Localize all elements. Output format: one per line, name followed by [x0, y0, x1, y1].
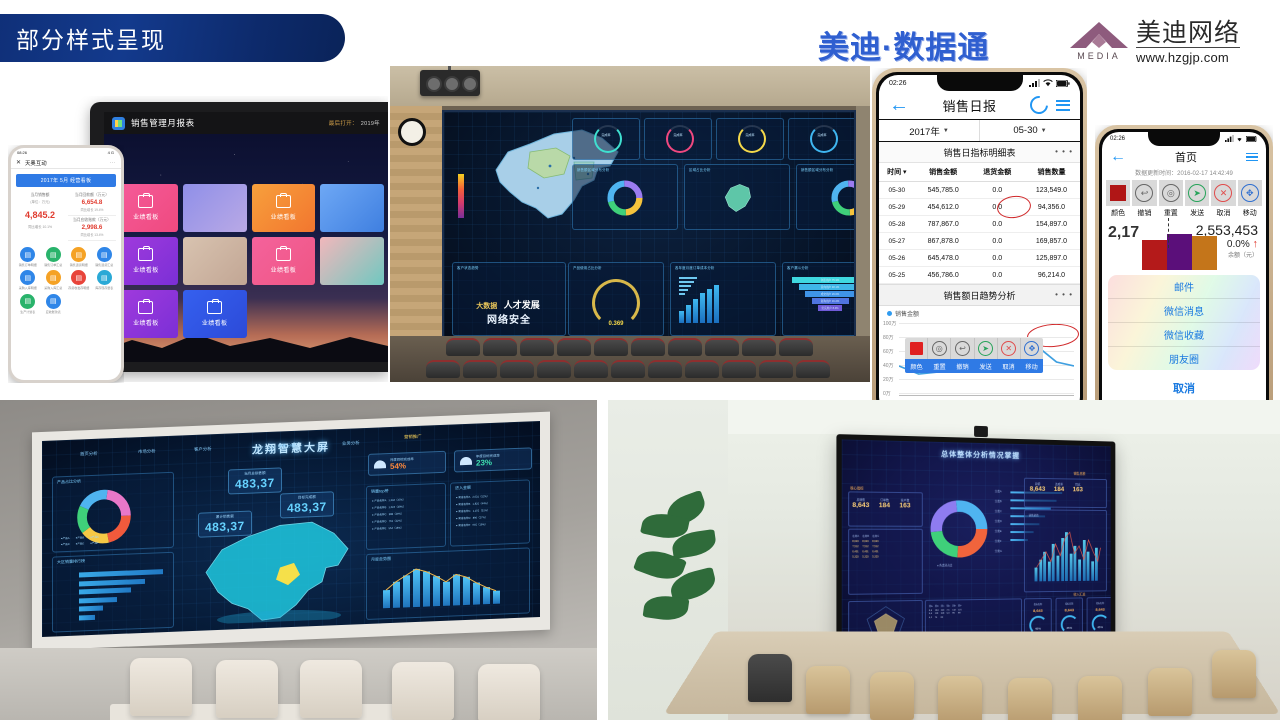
y-tick-label: 20万	[883, 376, 894, 383]
shortcut-label: 销售退货明细	[70, 264, 88, 267]
whiteboard-frame: 龙翔智慧大屏 首页分析市场分析客户分析销售分析业务分析营销推广 产品占比分析 ●…	[32, 412, 550, 651]
table-more-icon[interactable]: • • •	[1055, 147, 1073, 156]
tablet-tile-label: 业绩看板	[202, 318, 228, 327]
report-table-title: 销售日指标明细表	[943, 148, 1015, 158]
share-option[interactable]: 朋友圈	[1108, 347, 1260, 370]
y-tick-label: 40万	[883, 362, 894, 369]
gauge-kpi-caption: 指标名称	[1057, 601, 1082, 605]
shortcut-item[interactable]: ▤销售退货汇总	[93, 247, 117, 267]
phone-report-statusbar: 02:26	[879, 75, 1080, 91]
gauge-kpi-value: 8,643	[1025, 608, 1051, 613]
shortcut-item[interactable]: ▤销售订单明细	[16, 247, 40, 267]
banner-text-2: 人才发展	[504, 300, 540, 310]
kpi-pct-text: 0.0%	[1227, 239, 1250, 250]
tablet-tile-grid[interactable]: 业绩看板业绩看板业绩看板业绩看板业绩看板业绩看板	[114, 184, 384, 338]
tablet-wallpaper: 业绩看板业绩看板业绩看板业绩看板业绩看板业绩看板	[104, 134, 388, 362]
banner-card-title: 客户状态趋势	[457, 265, 479, 270]
table-cell: 0.0	[972, 233, 1023, 250]
reset-icon: ◎	[1162, 184, 1180, 202]
toolbar-move-button[interactable]: ✥	[1021, 338, 1043, 359]
toolbar-label[interactable]: 发送	[1185, 206, 1209, 220]
tablet-meta-label: 最后打开：	[329, 121, 358, 127]
chair	[478, 664, 540, 720]
shortcut-icon: ▤	[46, 270, 61, 285]
shortcut-icon: ▤	[46, 294, 61, 309]
status-indicators	[1029, 79, 1070, 87]
camera-icon	[974, 426, 988, 437]
annotation-toolbar[interactable]: ◎↩➤✕✥ 颜色重置撤销发送取消移动	[905, 338, 1043, 373]
funnel-row: 复购用户 16.2%	[812, 298, 849, 304]
logo-website-url: www.hzgjp.com	[1136, 50, 1240, 65]
annotation-drawn-bars	[1142, 228, 1217, 270]
toolbar-send-button[interactable]: ➤	[1185, 180, 1209, 206]
phone-left-screen: 08:26 4G ✕ 天奥互动 ··· 2017年 5月 经营看板 当月销售额 …	[11, 148, 121, 380]
table-cell: 454,612.0	[915, 199, 972, 216]
income-title: 进入金额	[455, 485, 471, 492]
kpi-value: 163	[1073, 486, 1083, 493]
table-cell: 169,857.0	[1023, 233, 1080, 250]
toolbar-label[interactable]: 取消	[997, 359, 1020, 373]
shortcut-item[interactable]: ▤库存现存量表	[93, 270, 117, 290]
home-kpi-section: 2,17 2,553,453 0.0% ↑ 余额（元）	[1102, 220, 1266, 242]
chair	[938, 676, 982, 720]
kpi-value: 8,643	[852, 502, 869, 509]
list-menu-icon[interactable]	[1056, 100, 1070, 111]
mid-card-title: 销售额区域分布分析	[801, 167, 833, 172]
toolbar-label[interactable]: 移动	[1238, 206, 1262, 220]
date-selector[interactable]: 05-30▼	[980, 120, 1080, 141]
smart-dashboard-screen: 龙翔智慧大屏 首页分析市场分析客户分析销售分析业务分析营销推广 产品占比分析 ●…	[42, 421, 540, 637]
progress-list: 分类A分类B 分类C分类D 分类E分类F 分类G	[995, 489, 1002, 553]
toolbar-reset-button[interactable]: ◎	[1159, 180, 1183, 206]
toolbar-label[interactable]: 颜色	[1106, 206, 1130, 220]
briefcase-icon	[138, 248, 153, 261]
banner-text-1: 大数据	[476, 303, 497, 310]
projector-icon	[420, 70, 480, 96]
kpi-card: 当月回款额（万元）6,654.8同比增长 19.4%	[68, 191, 116, 216]
toolbar-label[interactable]: 撤销	[951, 359, 974, 373]
shortcut-label: 销售订单汇总	[44, 264, 62, 267]
table-column-header[interactable]: 销售数量	[1023, 163, 1080, 182]
tablet-device-body: 销售管理月报表 最后打开：2019年 业绩看板业绩看板业绩看板业绩看板业绩看板业…	[90, 102, 388, 372]
table-row[interactable]: 05-28787,867.00.0154,897.0	[879, 216, 1080, 233]
mid-card-title: 区域占比分析	[689, 167, 711, 172]
toolbar-color-swatch-button[interactable]	[1106, 180, 1130, 206]
chair	[1212, 650, 1256, 698]
briefcase-icon	[138, 301, 153, 314]
bottom-card-title: 客户漏斗分析	[787, 265, 809, 270]
table-row[interactable]: 05-26645,478.00.0125,897.0	[879, 250, 1080, 267]
gauge-percent: 45%	[1088, 625, 1111, 629]
shortcut-label: 存货收发存明细	[68, 287, 89, 290]
back-arrow-icon[interactable]: ←	[889, 95, 909, 115]
donut-chart	[606, 179, 644, 217]
region-map-chart	[718, 179, 756, 217]
monthly-trend-title: 月度走势图	[371, 556, 391, 563]
back-arrow-icon[interactable]: ←	[1110, 149, 1126, 165]
kpi-card-caption: 当月回款额（万元）	[68, 193, 116, 198]
shortcut-item[interactable]: ▤销售订单汇总	[42, 247, 66, 267]
donut-legend: ●产品A●产品B●产品C ●产品D●产品E●产品F	[61, 535, 99, 547]
toolbar-icon-row[interactable]: ◎↩➤✕✥	[905, 338, 1043, 359]
status-time: 02:26	[1110, 136, 1125, 142]
room-left-floor	[0, 648, 597, 720]
core-metrics-table: 名称A名称B名称C 8,6438,6438,643 7,5127,5127,51…	[848, 529, 923, 595]
wifi-icon	[1235, 135, 1244, 142]
move-icon: ✥	[1024, 341, 1039, 356]
table-cell: 456,786.0	[915, 267, 972, 284]
seat-row-2	[426, 360, 830, 378]
chart-legend: 销售金额	[879, 306, 1080, 318]
dashboard-tab[interactable]: 营销推广	[404, 434, 422, 441]
chair	[1008, 678, 1052, 720]
toolbar-label[interactable]: 取消	[1211, 206, 1235, 220]
kpi-main-caption: 当月销售额	[16, 193, 64, 198]
funnel-row: 忠实用户 8.4%	[818, 305, 842, 311]
kpi-card-list: 当月回款额（万元）6,654.8同比增长 19.4%当月应收账款（万元）2,99…	[68, 191, 116, 241]
tablet-tile-label: 业绩看板	[271, 212, 297, 221]
status-indicators	[1225, 135, 1258, 144]
toolbar-label-row[interactable]: 颜色重置撤销发送取消移动	[905, 359, 1043, 373]
table-cell: 05-28	[879, 216, 915, 233]
donut-chart	[929, 498, 989, 559]
shortcut-item[interactable]: ▤采购入库汇总	[42, 270, 66, 290]
gauge-chart	[592, 279, 640, 327]
kpi-main-value: 4,845.2	[16, 210, 64, 220]
y-tick-label: 60万	[883, 348, 894, 355]
legend-label: 销售金额	[895, 309, 919, 318]
status-time: 08:26	[17, 150, 27, 155]
toolbar-undo-button[interactable]: ↩	[951, 338, 974, 359]
gauge-percent: 45%	[1057, 626, 1082, 631]
product-share-card: 产品占比分析 ●产品A●产品B●产品C ●产品D●产品E●产品F	[52, 472, 174, 553]
chair	[392, 662, 454, 720]
briefcase-icon	[276, 248, 291, 261]
y-tick-label: 0万	[883, 390, 891, 397]
kpi-item: 总销售8,643	[852, 498, 869, 510]
sales-total-values: 总额8,643达成率184同比163	[1030, 482, 1083, 494]
tv-dashboard-display: 总体整体分析情况掌握 核心指标 总销售8,643订单数184客户数163 名称A…	[836, 434, 1115, 646]
gauge-kpi-caption: 指标名称	[1025, 602, 1051, 606]
shortcut-item[interactable]: ▤采购入库明细	[16, 270, 40, 290]
map-color-legend	[458, 174, 464, 218]
table-cell: 645,478.0	[915, 250, 972, 267]
sales-bar-card: 销售趋势	[1024, 509, 1107, 592]
dashboard-bottom-card: 客户漏斗分析浏览用户 75.3%意向用户 48.1%成交用户 29.6%复购用户…	[782, 262, 856, 336]
shortcut-label: 生产计划表	[20, 311, 35, 314]
gauge-ring	[1091, 614, 1109, 633]
send-icon: ➤	[1188, 184, 1206, 202]
shortcut-icon: ▤	[71, 270, 86, 285]
table-row[interactable]: 05-25456,786.00.096,214.0	[879, 267, 1080, 284]
brand-title: 美迪·数据通	[818, 22, 989, 67]
tablet-tile-label: 业绩看板	[271, 265, 297, 274]
table-cell: 96,214.0	[1023, 267, 1080, 284]
table-body: 05-30545,785.00.0123,549.005-29454,612.0…	[879, 182, 1080, 284]
sales-trend-line	[1035, 528, 1103, 581]
china-map-chart	[184, 510, 364, 625]
dashboard-tab[interactable]: 市场分析	[138, 448, 156, 455]
table-column-header[interactable]: 退货金额	[972, 163, 1023, 182]
toolbar-icon-row[interactable]: ↩◎➤✕✥	[1106, 180, 1262, 206]
dashboard-title: 总体整体分析情况掌握	[941, 449, 1020, 461]
toolbar-send-button[interactable]: ➤	[975, 338, 998, 359]
table-cell: 05-25	[879, 267, 915, 284]
toolbar-reset-button[interactable]: ◎	[928, 338, 951, 359]
tablet-tile[interactable]	[320, 184, 384, 232]
region-rank-title: 大区销量排行榜	[57, 558, 85, 565]
dashboard-mid-card: 区域占比分析	[684, 164, 790, 230]
metric-card-1: 当月总销售额 483,37	[228, 467, 282, 494]
gauge-kpi-value: 8,643	[1088, 607, 1111, 612]
shortcut-item[interactable]: ▤生产计划表	[16, 294, 40, 314]
period-banner[interactable]: 2017年 5月 经营看板	[16, 174, 116, 187]
horizontal-bar-chart	[79, 569, 165, 620]
gauge-percent: 45%	[1025, 626, 1051, 631]
tablet-tile-label: 业绩看板	[133, 318, 159, 327]
shortcut-icon: ▤	[97, 270, 112, 285]
toolbar-color-swatch-button[interactable]	[905, 338, 928, 359]
ring-gauge	[810, 125, 838, 153]
dashboard-mid-card: 销售额区域分布分析	[796, 164, 856, 230]
kpi-item: 客户数163	[899, 498, 910, 509]
tablet-tile[interactable]	[183, 184, 247, 232]
shortcut-label: 采购入库明细	[19, 287, 37, 290]
kpi-ring-card: 完成率	[788, 118, 856, 160]
shortcut-label: 应收账款表	[46, 311, 61, 314]
classroom-photo: 完成率完成率完成率完成率完成率 销售额区域分布分析区域占比分析销售额区域分布分析…	[390, 66, 870, 382]
kpi-item: 同比163	[1073, 482, 1083, 493]
tablet-tile[interactable]: 业绩看板	[183, 290, 247, 338]
kpi-value: 184	[879, 502, 890, 509]
tablet-app-icon	[112, 117, 125, 130]
logo-company-name: 美迪网络	[1136, 20, 1240, 48]
shortcut-icon: ▤	[97, 247, 112, 262]
table-cell: 154,897.0	[1023, 216, 1080, 233]
chair	[870, 672, 914, 720]
toolbar-label-row[interactable]: 颜色撤销重置发送取消移动	[1106, 206, 1262, 220]
table-column-header[interactable]: 销售金额	[915, 163, 972, 182]
toolbar-label[interactable]: 移动	[1020, 359, 1043, 373]
banner-text-3: 网络安全	[487, 311, 531, 326]
ring-card-label: 完成率	[645, 133, 711, 137]
table-cell: 125,897.0	[1023, 250, 1080, 267]
table-cell: 05-27	[879, 233, 915, 250]
dashboard-bottom-card: 产品使用占比分析0.369	[568, 262, 664, 336]
table-cell: 05-26	[879, 250, 915, 267]
funnel-row: 浏览用户 75.3%	[792, 277, 856, 283]
section-title-banner: 部分样式呈现	[0, 14, 345, 62]
chart-more-icon[interactable]: • • •	[1055, 290, 1073, 299]
kpi-card-sub: 同比增长 19.4%	[68, 207, 116, 212]
data-update-time: 数据更新时间：2016-02-17 14:42:49	[1102, 168, 1266, 180]
share-option[interactable]: 微信消息	[1108, 299, 1260, 323]
gauge-kpi-caption: 指标名称	[1088, 601, 1111, 605]
date-selector-bar[interactable]: 2017年▼ 05-30▼	[879, 119, 1080, 142]
ring-card-label: 完成率	[789, 133, 855, 137]
table-row[interactable]: 05-30545,785.00.0123,549.0	[879, 182, 1080, 199]
dashboard-tab[interactable]: 客户分析	[194, 446, 212, 453]
share-sheet-options[interactable]: 邮件微信消息微信收藏朋友圈	[1108, 275, 1260, 370]
phone-home-navbar: ← 首页	[1102, 146, 1266, 168]
table-cell: 0.0	[972, 199, 1023, 216]
signal-icon	[1225, 135, 1234, 142]
kpi-value: 163	[899, 502, 910, 509]
wall-screen-photo: 龙翔智慧大屏 首页分析市场分析客户分析销售分析业务分析营销推广 产品占比分析 ●…	[0, 400, 597, 720]
trend-up-arrow-icon: ↑	[1253, 238, 1259, 250]
move-icon: ✥	[1241, 184, 1259, 202]
battery-icon	[1056, 80, 1070, 87]
ring-card-label: 完成率	[717, 133, 783, 137]
shortcut-icon: ▤	[71, 247, 86, 262]
tablet-screen: 销售管理月报表 最后打开：2019年 业绩看板业绩看板业绩看板业绩看板业绩看板业…	[104, 112, 388, 362]
ring-card-label: 完成率	[573, 133, 639, 137]
kpi-card: 当月应收账款（万元）2,998.6同比增长 13.4%	[68, 216, 116, 241]
kpi-card-value: 6,654.8	[68, 199, 116, 206]
tablet-app-title: 销售管理月报表	[131, 117, 195, 129]
table-header-row: 时间 ▾销售金额退货金额销售数量	[879, 163, 1080, 182]
toolbar-label[interactable]: 重置	[1159, 206, 1183, 220]
dashboard-mid-card: 销售额区域分布分析	[572, 164, 678, 230]
phone-report-nav-title: 销售日报	[909, 96, 1030, 115]
table-cell: 05-30	[879, 182, 915, 199]
rate-value: 23%	[476, 458, 500, 468]
year-selector[interactable]: 2017年▼	[879, 120, 980, 141]
tablet-tile[interactable]: 业绩看板	[252, 237, 316, 285]
slide-canvas: 部分样式呈现 美迪·数据通 MEDIA 美迪网络 www.hzgjp.com 销…	[0, 0, 1280, 720]
product-share-title: 产品占比分析	[57, 478, 81, 485]
year-value: 2017年	[909, 124, 940, 138]
toolbar-label[interactable]: 撤销	[1132, 206, 1156, 220]
share-sheet-cancel[interactable]: 取消	[1108, 375, 1260, 400]
mid-card-title: 销售额区域分布分析	[577, 167, 609, 172]
status-time: 02:26	[889, 80, 907, 87]
shortcut-item[interactable]: ▤应收账款表	[42, 294, 66, 314]
phone-home-screen: 02:26 ← 首页 数据更新时间：2016-02-17 14:42:49	[1102, 132, 1266, 428]
tablet-tile[interactable]	[320, 237, 384, 285]
rate-value: 54%	[390, 461, 414, 471]
annotation-toolbar[interactable]: ↩◎➤✕✥ 颜色撤销重置发送取消移动	[1106, 180, 1262, 220]
annotation-dash-line	[1168, 218, 1169, 248]
seat-row-1	[446, 338, 813, 356]
dashboard-tab[interactable]: 销售分析	[278, 443, 296, 450]
phone-mockup-home-share: 02:26 ← 首页 数据更新时间：2016-02-17 14:42:49	[1095, 125, 1273, 435]
table-column-header[interactable]: 时间 ▾	[879, 163, 915, 182]
share-sheet[interactable]: 邮件微信消息微信收藏朋友圈 取消	[1108, 275, 1260, 400]
refresh-icon[interactable]	[1026, 92, 1051, 117]
chair	[806, 666, 850, 714]
phone-report-navbar: ← 销售日报	[879, 91, 1080, 119]
cancel-icon: ✕	[1214, 184, 1232, 202]
ring-gauge	[594, 125, 622, 153]
share-option[interactable]: 邮件	[1108, 275, 1260, 299]
tablet-app-header: 销售管理月报表 最后打开：2019年	[104, 112, 388, 134]
list-menu-icon[interactable]	[1246, 153, 1258, 162]
shortcut-icon: ▤	[20, 270, 35, 285]
more-icon[interactable]: ···	[110, 160, 117, 166]
briefcase-icon	[276, 195, 291, 208]
dashboard-tab[interactable]: 首页分析	[80, 451, 98, 458]
y-tick-label: 100万	[883, 320, 896, 327]
bottom-card-title: 各年度月度订单成本分析	[675, 265, 715, 270]
donut-chart	[830, 179, 856, 217]
chair	[748, 654, 792, 702]
chevron-down-icon: ▼	[1041, 128, 1047, 134]
phone-mockup-dashboard: 08:26 4G ✕ 天奥互动 ··· 2017年 5月 经营看板 当月销售额 …	[8, 145, 124, 383]
close-icon[interactable]: ✕	[16, 159, 21, 166]
toolbar-undo-button[interactable]: ↩	[1132, 180, 1156, 206]
toolbar-label[interactable]: 发送	[974, 359, 997, 373]
gauge-kpi-value: 8,643	[1057, 607, 1082, 612]
speed-gauge-icon	[460, 457, 472, 465]
chair	[300, 660, 362, 718]
kpi-ring-card: 完成率	[572, 118, 640, 160]
toolbar-label[interactable]: 颜色	[905, 359, 928, 373]
trend-chart-title: 销售额日趋势分析	[943, 291, 1015, 301]
income-summary-label: 收入汇总	[1074, 592, 1086, 597]
briefcase-icon	[138, 195, 153, 208]
trend-chart-title-bar: 销售额日趋势分析 • • •	[879, 284, 1080, 306]
kpi-card-caption: 当月应收账款（万元）	[68, 218, 116, 223]
banner-card: 客户状态趋势 大数据 人才发展 网络安全	[452, 262, 566, 336]
chair	[1078, 676, 1122, 720]
signal-icon	[1029, 79, 1040, 87]
tablet-meta-value: 2019年	[361, 121, 380, 127]
funnel-chart: 浏览用户 75.3%意向用户 48.1%成交用户 29.6%复购用户 16.2%…	[783, 277, 856, 312]
income-card: 进入金额 ● 渠道名称A 2,031（52%） ● 渠道名称B 1,825（44…	[450, 479, 530, 546]
ring-gauge	[738, 125, 766, 153]
shortcut-item[interactable]: ▤存货收发存明细	[67, 270, 91, 290]
share-option[interactable]: 微信收藏	[1108, 323, 1260, 347]
bottom-card-title: 产品使用占比分析	[573, 265, 602, 270]
legend-dot	[887, 311, 892, 316]
tablet-meta: 最后打开：2019年	[329, 119, 380, 127]
shortcut-grid[interactable]: ▤销售订单明细▤销售订单汇总▤销售退货明细▤销售退货汇总▤采购入库明细▤采购入库…	[11, 241, 121, 314]
toolbar-cancel-button[interactable]: ✕	[1211, 180, 1235, 206]
table-cell: 867,878.0	[915, 233, 972, 250]
completion-rate-card: 月度目标完成率54%	[368, 451, 446, 476]
tablet-tile[interactable]: 业绩看板	[252, 184, 316, 232]
undo-icon: ↩	[955, 341, 970, 356]
grid-line	[899, 323, 1074, 324]
phone-left-frame: 08:26 4G ✕ 天奥互动 ··· 2017年 5月 经营看板 当月销售额 …	[8, 145, 124, 383]
table-row[interactable]: 05-27867,878.00.0169,857.0	[879, 233, 1080, 250]
chair	[216, 660, 278, 718]
kpi-card-value: 2,998.6	[68, 224, 116, 231]
shortcut-label: 销售退货汇总	[95, 264, 113, 267]
donut-caption: ● 各类别占比	[937, 563, 952, 567]
shortcut-item[interactable]: ▤销售退货明细	[67, 247, 91, 267]
classroom-seating	[390, 336, 870, 382]
toolbar-move-button[interactable]: ✥	[1238, 180, 1262, 206]
table-cell: 545,785.0	[915, 182, 972, 199]
core-metrics-label: 核心指标	[850, 485, 863, 490]
color-swatch-icon	[910, 342, 923, 355]
conference-room-photo: 总体整体分析情况掌握 核心指标 总销售8,643订单数184客户数163 名称A…	[608, 400, 1280, 720]
table-row[interactable]: 05-29454,612.00.094,356.0	[879, 199, 1080, 216]
metric-1-value: 483,37	[235, 476, 275, 492]
tv-screen: 总体整体分析情况掌握 核心指标 总销售8,643订单数184客户数163 名称A…	[842, 439, 1111, 640]
dashboard-tab[interactable]: 业务分析	[342, 440, 360, 447]
toolbar-cancel-button[interactable]: ✕	[998, 338, 1021, 359]
toolbar-label[interactable]: 重置	[928, 359, 951, 373]
table-cell: 0.0	[972, 216, 1023, 233]
tablet-tile[interactable]	[183, 237, 247, 285]
color-swatch-icon	[1110, 185, 1126, 201]
kpi-main: 当月销售额 (单位：万元) 4,845.2 同比增长 10.1%	[16, 191, 64, 241]
table-cell: 0.0	[972, 182, 1023, 199]
gauge-value: 0.369	[569, 321, 663, 327]
